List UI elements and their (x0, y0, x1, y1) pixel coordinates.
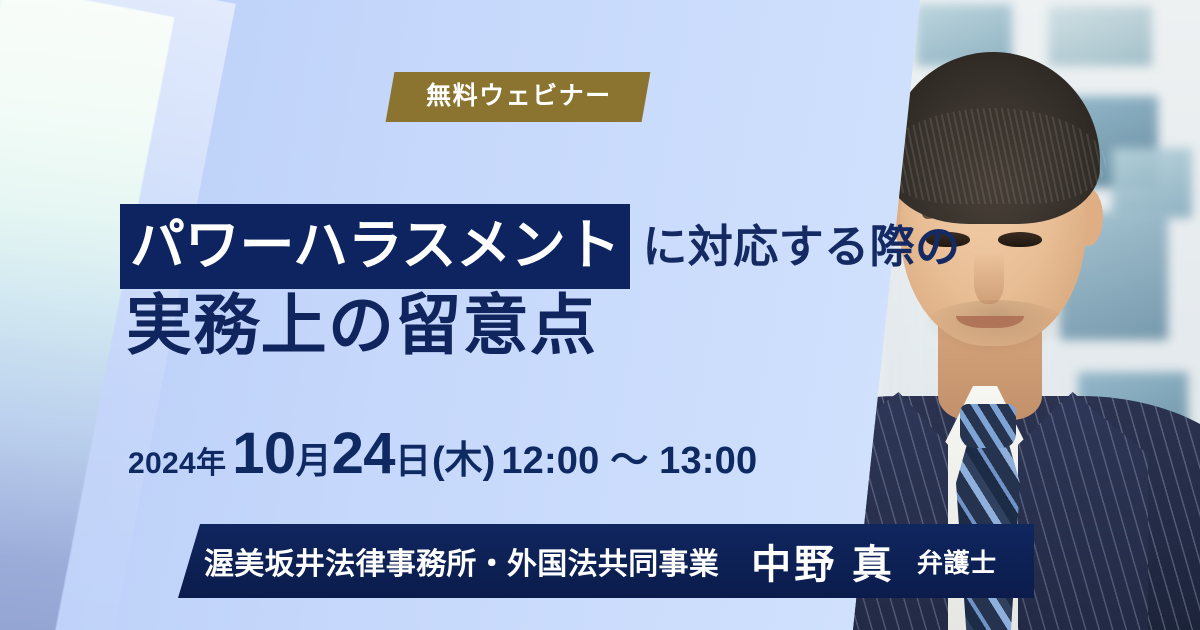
webinar-banner: 無料ウェビナー パワーハラスメント に対応する際の 実務上の留意点 2024年 … (0, 0, 1200, 630)
schedule-day: 24 (332, 420, 395, 487)
free-webinar-badge-label: 無料ウェビナー (426, 84, 612, 109)
schedule-year: 2024年 (128, 438, 226, 482)
schedule-month-unit: 月 (296, 432, 332, 484)
schedule-weekday: (木) (432, 429, 495, 484)
schedule-time: 12:00 〜 13:00 (501, 429, 757, 484)
speaker-role: 弁護士 (917, 543, 997, 580)
schedule-month: 10 (232, 420, 295, 487)
footer-content: 渥美坂井法律事務所・外国法共同事業 中野 真 弁護士 (204, 524, 1034, 598)
free-webinar-badge: 無料ウェビナー (386, 72, 650, 122)
title-line-1-tail: に対応する際の (642, 224, 960, 269)
title-line-1: パワーハラスメント に対応する際の (120, 204, 960, 289)
schedule-day-unit: 日 (395, 432, 431, 484)
title-highlight: パワーハラスメント (120, 204, 630, 289)
title-line-2: 実務上の留意点 (126, 292, 597, 358)
firm-name: 渥美坂井法律事務所・外国法共同事業 (204, 539, 719, 583)
speaker-name: 中野 真 (751, 532, 895, 590)
schedule-row: 2024年 10 月 24 日 (木) 12:00 〜 13:00 (128, 420, 757, 487)
